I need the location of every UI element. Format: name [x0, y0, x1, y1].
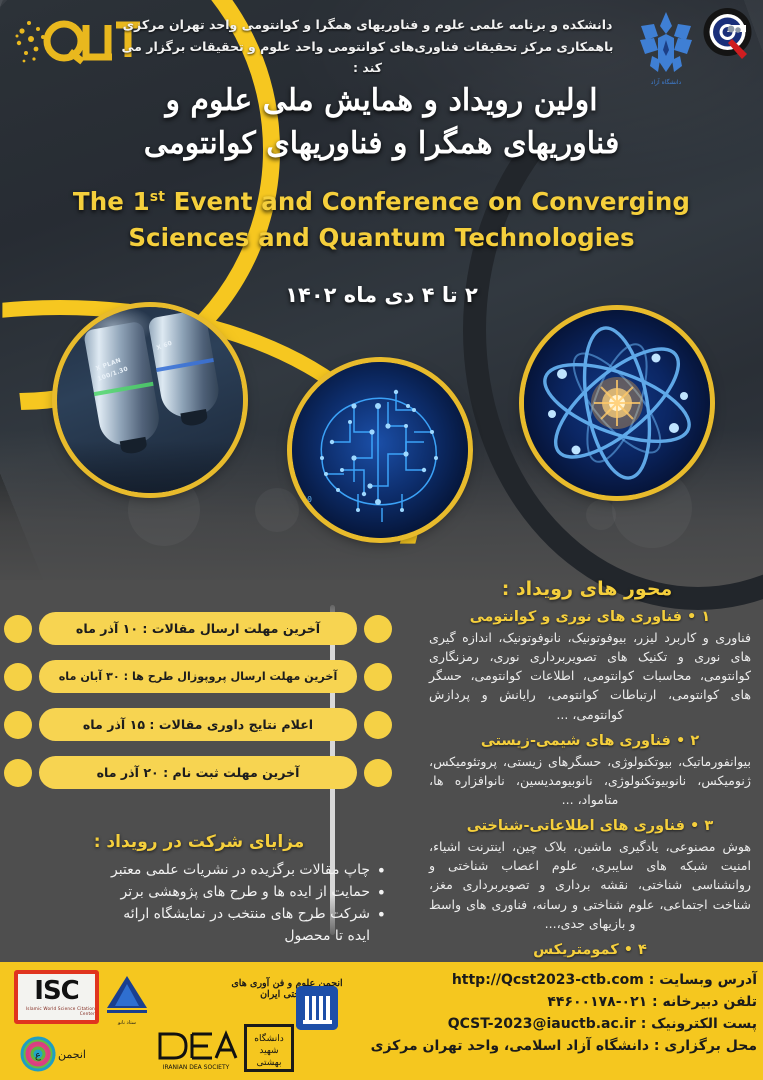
sponsor-logos: ISC Islamic World Science Citation Cente… — [6, 966, 346, 1078]
svg-text:انجمن: انجمن — [58, 1048, 86, 1061]
deadline-pill: آخرین مهلت ارسال پروپوزال طرح ها : ۳۰ آب… — [39, 660, 357, 693]
isc-logo-subtitle: Islamic World Science Citation Center — [18, 1006, 95, 1016]
bullet-dot-icon — [4, 663, 32, 691]
benefits-heading: مزایای شرکت در رویداد : — [6, 832, 392, 852]
bullet-dot-icon — [364, 759, 392, 787]
deadline-row: آخرین مهلت ارسال مقالات : ۱۰ آذر ماه — [4, 612, 392, 645]
svg-text:1001: 1001 — [293, 525, 312, 534]
svg-text:0100: 0100 — [293, 505, 312, 514]
svg-text:دانشگاه: دانشگاه — [254, 1032, 283, 1044]
conference-poster: دانشکده و برنامه علمی علوم و فناوریهای ه… — [0, 0, 763, 1080]
website-row: آدرس وبسایت : http://Qcst2023-ctb.com — [339, 970, 757, 992]
deadline-row: آخرین مهلت ثبت نام : ۲۰ آذر ماه — [4, 756, 392, 789]
phone-number: ۰۲۱-۴۴۶۰۰۱۷۸ — [547, 994, 647, 1010]
topic-body: بیوانفورماتیک، بیوتکنولوژی، حسگرهای زیست… — [425, 752, 755, 809]
quantum-research-center-logo — [701, 6, 754, 63]
title-fa-line-1: اولین رویداد و همایش ملی علوم و — [0, 80, 763, 123]
bullet-dot-icon — [364, 711, 392, 739]
contact-info: آدرس وبسایت : http://Qcst2023-ctb.com تل… — [339, 970, 757, 1058]
topic-number: ۱ — [701, 609, 710, 625]
svg-text:ع: ع — [35, 1050, 41, 1061]
email-label: پست الکترونیک : — [641, 1016, 757, 1032]
venue-name: دانشگاه آزاد اسلامی، واحد تهران مرکزی — [371, 1038, 649, 1054]
topic-body: هوش مصنوعی، یادگیری ماشین، بلاک چین، این… — [425, 837, 755, 933]
venue-row: محل برگزاری : دانشگاه آزاد اسلامی، واحد … — [339, 1036, 757, 1058]
footer-bar: آدرس وبسایت : http://Qcst2023-ctb.com تل… — [0, 962, 763, 1080]
website-label: آدرس وبسایت : — [649, 972, 757, 988]
benefits-section: مزایای شرکت در رویداد : چاپ مقالات برگزی… — [6, 832, 392, 947]
topic-body: فناوری و کاربرد لیزر، بیوفوتونیک، نانوفو… — [425, 628, 755, 724]
topic-item: ۱ • فناوری های نوری و کوانتومی فناوری و … — [425, 609, 755, 724]
phone-label: تلفن دبیرخانه : — [652, 994, 757, 1010]
event-date: ۲ تا ۴ دی ماه ۱۴۰۲ — [0, 283, 763, 307]
page-title-english: The 1st Event and Conference on Convergi… — [0, 184, 763, 256]
deadline-pill: آخرین مهلت ارسال مقالات : ۱۰ آذر ماه — [39, 612, 357, 645]
svg-text:بهشتی: بهشتی — [257, 1058, 282, 1068]
topic-label: • فناوری های شیمی-زیستی — [481, 733, 685, 749]
phone-row: تلفن دبیرخانه : ۰۲۱-۴۴۶۰۰۱۷۸ — [339, 992, 757, 1014]
bullet-dot-icon — [364, 615, 392, 643]
topic-label: • فناوری های اطلاعاتی-شناختی — [467, 818, 700, 834]
ghost-circle-decor — [586, 500, 616, 530]
organizer-line-2: باهمکاری مرکز تحقیقات فناوری‌های کوانتوم… — [115, 36, 620, 79]
title-fa-line-2: فناوریهای همگرا و فناوریهای کوانتومی — [0, 123, 763, 166]
topic-number: ۴ — [638, 942, 647, 958]
deadline-row: اعلام نتایج داوری مقالات : ۱۵ آذر ماه — [4, 708, 392, 741]
benefit-item-continuation: ایده تا محصول — [6, 925, 392, 947]
topic-title: ۲ • فناوری های شیمی-زیستی — [425, 733, 755, 749]
circuit-brain-image: 01100100 10011001 — [292, 362, 468, 538]
benefit-item: شرکت طرح های منتخب در نمایشگاه ارائه — [6, 903, 392, 925]
bullet-dot-icon — [364, 663, 392, 691]
title-en-prefix: The 1 — [73, 187, 150, 216]
topics-list: ۱ • فناوری های نوری و کوانتومی فناوری و … — [425, 600, 755, 980]
page-title-persian: اولین رویداد و همایش ملی علوم و فناوریها… — [0, 80, 763, 165]
topic-number: ۲ — [690, 733, 699, 749]
dea-logo-subtitle: IRANIAN DEA SOCIETY — [163, 1064, 230, 1071]
svg-text:شهید: شهید — [259, 1046, 278, 1056]
bullet-dot-icon — [4, 759, 32, 787]
deadlines-list: آخرین مهلت ارسال مقالات : ۱۰ آذر ماه آخر… — [4, 612, 392, 804]
bullet-dot-icon — [4, 615, 32, 643]
website-url[interactable]: http://Qcst2023-ctb.com — [452, 970, 644, 992]
svg-text:ستاد نانو: ستاد نانو — [117, 1020, 136, 1026]
topic-label: • کمومتریکس — [533, 942, 633, 958]
niroo-research-institute-logo: ع انجمن — [16, 1032, 94, 1076]
topic-title: ۳ • فناوری های اطلاعاتی-شناختی — [425, 818, 755, 834]
organizer-line-1: دانشکده و برنامه علمی علوم و فناوریهای ه… — [115, 14, 620, 36]
email-row: پست الکترونیک : QCST-2023@iauctb.ac.ir — [339, 1014, 757, 1036]
topic-number: ۳ — [704, 818, 713, 834]
deadline-pill: آخرین مهلت ثبت نام : ۲۰ آذر ماه — [39, 756, 357, 789]
topic-title: ۴ • کمومتریکس — [425, 942, 755, 958]
benefit-item: حمایت از ایده ها و طرح های پژوهشی برتر — [6, 881, 392, 903]
email-address[interactable]: QCST-2023@iauctb.ac.ir — [448, 1014, 636, 1036]
isc-logo: ISC Islamic World Science Citation Cente… — [14, 970, 99, 1024]
atom-orbit-image — [524, 310, 710, 496]
dea-logo: IRANIAN DEA SOCIETY — [154, 1028, 238, 1072]
svg-text:1001: 1001 — [293, 515, 312, 524]
nanotech-logo: ستاد نانو — [101, 972, 153, 1028]
svg-text:0110: 0110 — [293, 495, 312, 504]
title-en-rest: Event and Conference on Converging — [174, 187, 690, 216]
ordinal-suffix: st — [150, 189, 165, 205]
title-en-line-1: The 1st Event and Conference on Convergi… — [0, 184, 763, 220]
topic-title: ۱ • فناوری های نوری و کوانتومی — [425, 609, 755, 625]
shahid-beheshti-university-logo: دانشگاه شهید بهشتی — [244, 1024, 294, 1072]
axes-heading: محور های رویداد : — [411, 578, 763, 600]
topic-item: ۳ • فناوری های اطلاعاتی-شناختی هوش مصنوع… — [425, 818, 755, 933]
deadline-row: آخرین مهلت ارسال پروپوزال طرح ها : ۳۰ آب… — [4, 660, 392, 693]
organizer-text: دانشکده و برنامه علمی علوم و فناوریهای ه… — [115, 14, 620, 79]
venue-label: محل برگزاری : — [654, 1038, 757, 1054]
microscope-objectives-image: X PLAN 100/1.30 X 60 — [57, 307, 243, 493]
topic-label: • فناوری های نوری و کوانتومی — [470, 609, 697, 625]
topic-item: ۲ • فناوری های شیمی-زیستی بیوانفورماتیک،… — [425, 733, 755, 809]
bullet-dot-icon — [4, 711, 32, 739]
benefit-item: چاپ مقالات برگزیده در نشریات علمی معتبر — [6, 859, 392, 881]
library-book-icon — [296, 986, 338, 1030]
deadline-pill: اعلام نتایج داوری مقالات : ۱۵ آذر ماه — [39, 708, 357, 741]
isc-logo-mark: ISC — [34, 978, 78, 1004]
title-en-line-2: Sciences and Quantum Technologies — [0, 220, 763, 256]
